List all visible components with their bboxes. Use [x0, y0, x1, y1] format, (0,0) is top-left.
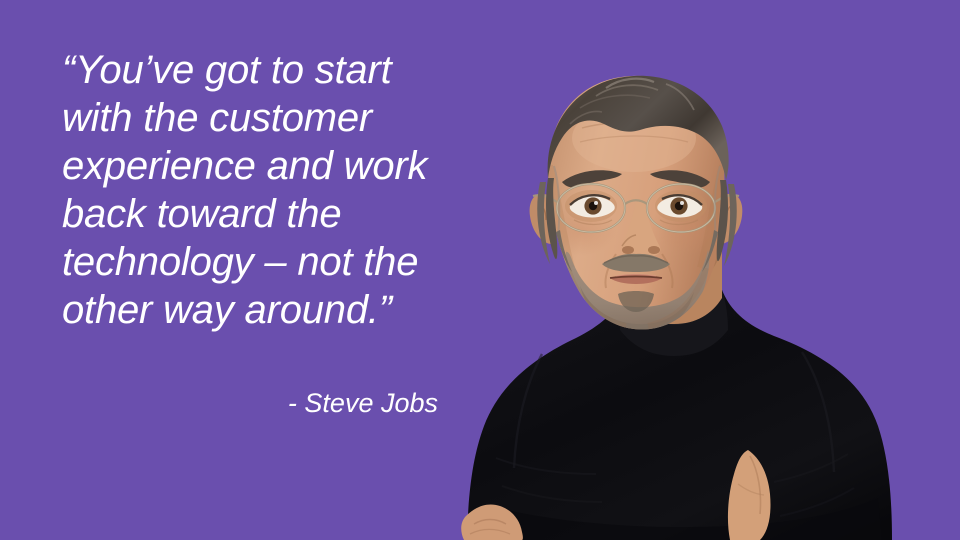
quote-line-5: technology – not the [62, 238, 462, 286]
quote-text: “You’ve got to start with the customer e… [62, 46, 462, 334]
quote-attribution: - Steve Jobs [62, 386, 438, 420]
attribution-text: - Steve Jobs [288, 388, 438, 418]
torso-black-turtleneck [467, 290, 892, 540]
steve-jobs-portrait [430, 54, 930, 540]
quote-line-2: with the customer [62, 94, 462, 142]
quote-line-6: other way around.” [62, 286, 462, 334]
quote-line-1: “You’ve got to start [62, 46, 462, 94]
quote-line-4: back toward the [62, 190, 462, 238]
quote-line-3: experience and work [62, 142, 462, 190]
quote-slide: “You’ve got to start with the customer e… [0, 0, 960, 540]
